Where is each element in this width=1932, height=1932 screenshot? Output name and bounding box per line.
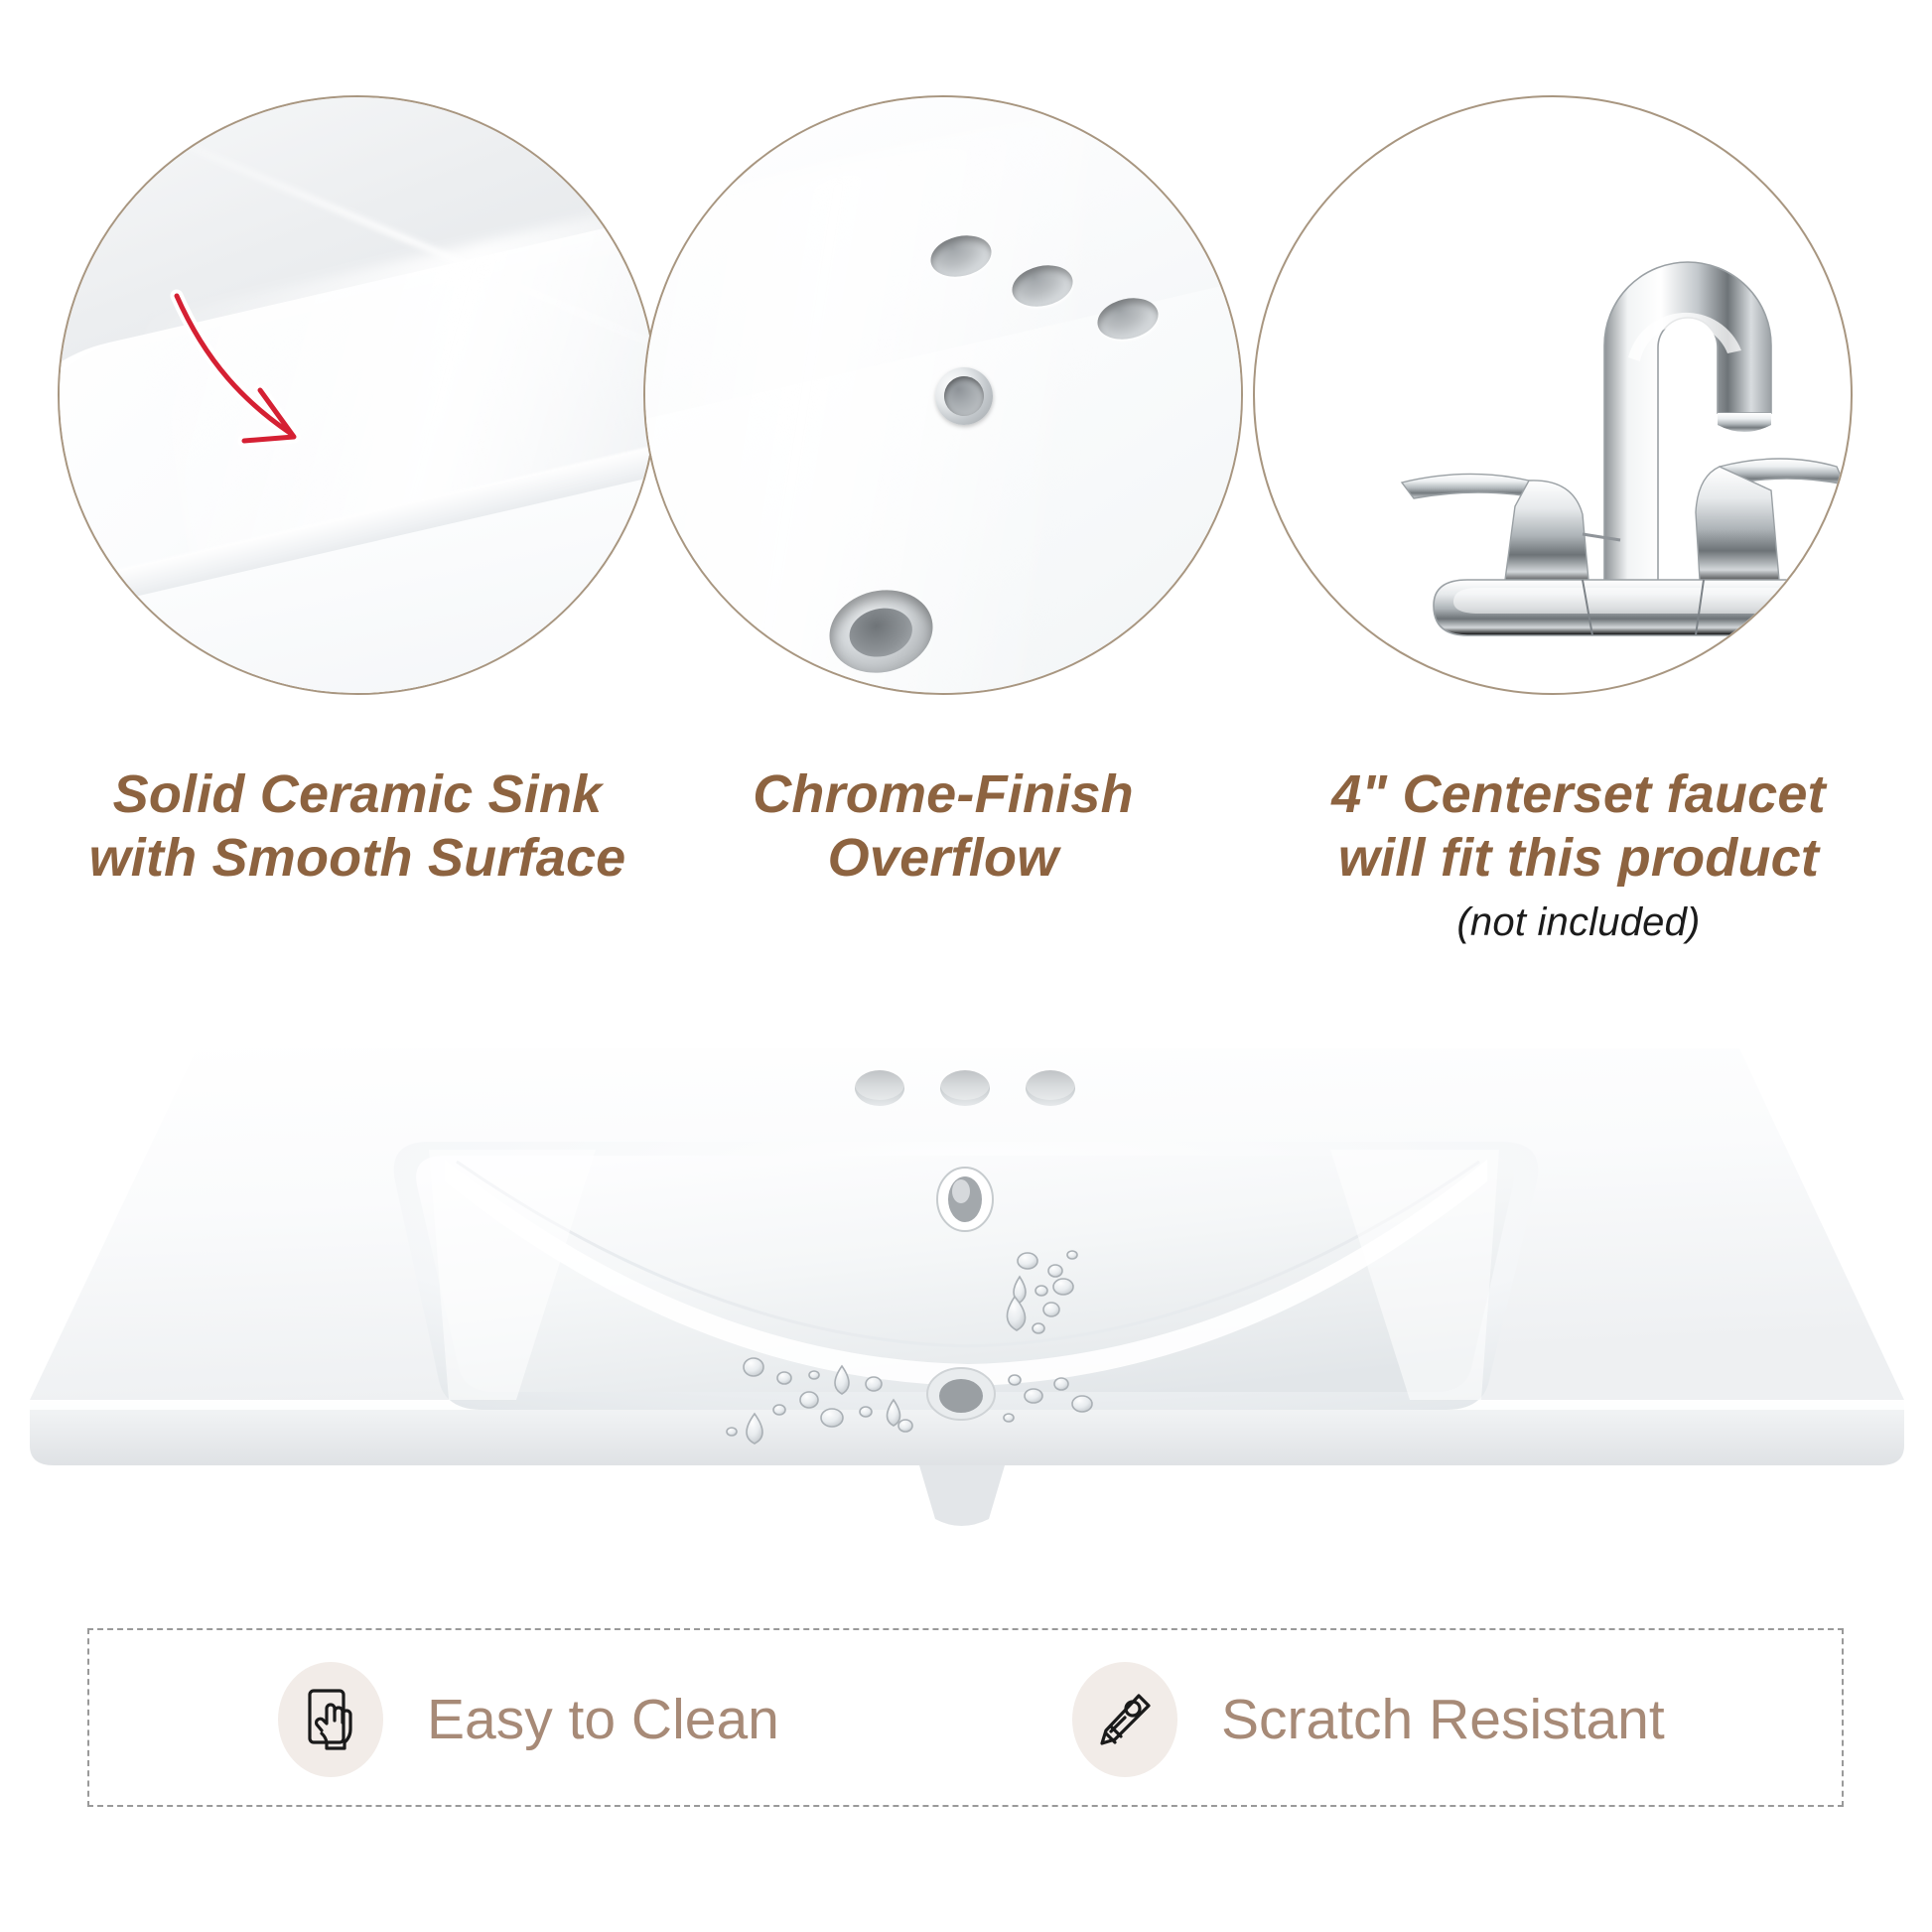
droplets-lower-cluster [727, 1358, 1092, 1444]
feature-bar: Easy to Clean Scratch Resistant [87, 1628, 1844, 1807]
chrome-faucet-illustration [1255, 97, 1851, 693]
circle-inset-chrome-faucet [1253, 95, 1853, 695]
deck-plate-highlight [1453, 588, 1829, 614]
caption-line-2: with Smooth Surface [89, 828, 626, 888]
faucet-handle-left-lever [1402, 474, 1541, 498]
hand-wiping-surface-icon [278, 1662, 383, 1777]
faucet-aerator [1718, 413, 1771, 432]
circle-inset-ceramic-surface [58, 95, 657, 695]
chrome-faucet-photo [1255, 97, 1851, 693]
caption-centerset-faucet: 4" Centerset faucet will fit this produc… [1251, 762, 1906, 951]
utility-knife-icon [1072, 1662, 1177, 1777]
product-infographic: Solid Ceramic Sink with Smooth Surface C… [0, 0, 1932, 1932]
circle-inset-chrome-overflow [643, 95, 1243, 695]
caption-line-2: will fit this product [1338, 828, 1819, 888]
faucet-handle-left-base [1505, 481, 1588, 587]
feature-scratch-resistant: Scratch Resistant [1072, 1630, 1665, 1809]
overflow-opening [940, 372, 988, 420]
caption-line-1: 4" Centerset faucet [1331, 764, 1826, 824]
caption-chrome-overflow: Chrome-Finish Overflow [655, 762, 1231, 890]
caption-line-1: Solid Ceramic Sink [113, 764, 603, 824]
droplets-upper-cluster [1007, 1251, 1077, 1333]
chrome-overflow-photo [645, 97, 1241, 693]
faucet-handle-right-base [1696, 467, 1779, 587]
feature-easy-to-clean: Easy to Clean [278, 1630, 779, 1809]
caption-ceramic-surface: Solid Ceramic Sink with Smooth Surface [40, 762, 675, 890]
detail-captions-row: Solid Ceramic Sink with Smooth Surface C… [0, 762, 1932, 1001]
red-arrow-icon [169, 286, 387, 475]
drain-opening [845, 603, 917, 663]
feature-label: Easy to Clean [427, 1690, 779, 1749]
caption-line-1: Chrome-Finish [753, 764, 1134, 824]
detail-insets-row [0, 95, 1932, 711]
feature-label: Scratch Resistant [1221, 1690, 1665, 1749]
caption-line-2: Overflow [828, 828, 1059, 888]
hero-sink-photo [0, 1031, 1932, 1587]
ceramic-surface-photo [60, 97, 655, 693]
caption-note: (not included) [1251, 894, 1906, 951]
water-droplets-group [0, 1031, 1932, 1587]
